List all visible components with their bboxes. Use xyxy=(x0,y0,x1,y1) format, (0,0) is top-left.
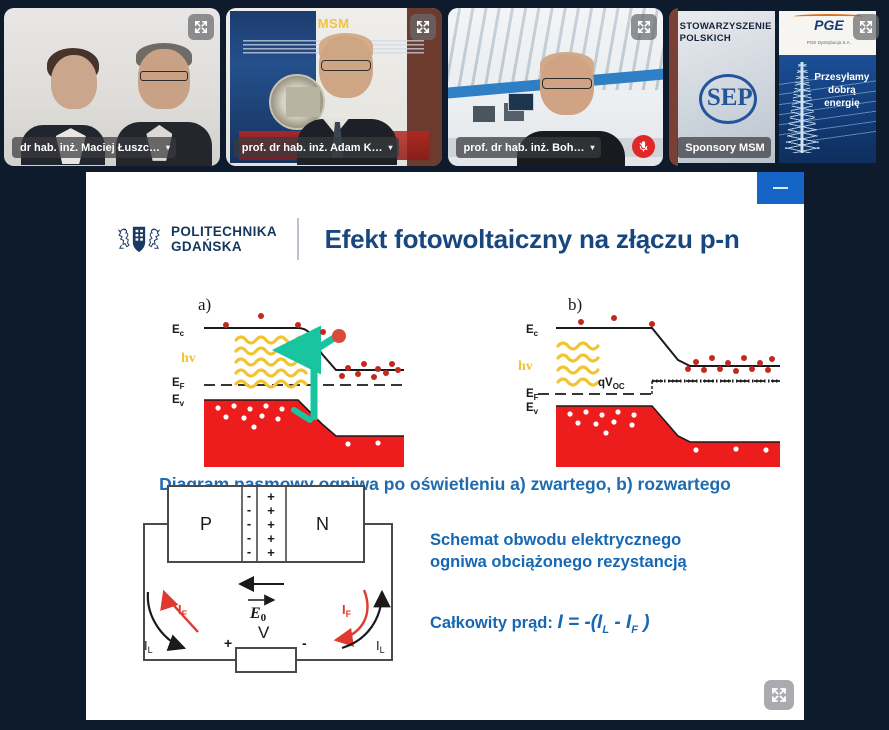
expand-icon[interactable] xyxy=(853,14,879,40)
chevron-down-icon[interactable]: ▾ xyxy=(166,143,170,152)
pg-crest-icon xyxy=(116,219,162,259)
svg-text:IL: IL xyxy=(144,638,153,655)
video-tile-1[interactable]: dr hab. inż. Maciej Łuszc… ▾ xyxy=(4,8,220,166)
band-diagrams: a) xyxy=(86,284,804,474)
svg-text:+: + xyxy=(267,489,275,504)
pg-logo-line2: GDAŃSKA xyxy=(171,239,277,254)
chevron-down-icon[interactable]: ▾ xyxy=(389,143,393,152)
svg-text:EF: EF xyxy=(172,377,185,391)
fullscreen-icon xyxy=(771,687,787,703)
participant-name: prof. dr hab. inż. Adam K… xyxy=(242,142,383,154)
total-current-formula: Całkowity prąd: I = -(IL - IF ) xyxy=(430,612,790,636)
circuit-diagram-svg: P N ----- +++++ E0 IF IL IF xyxy=(110,472,430,702)
expand-icon[interactable] xyxy=(188,14,214,40)
band-diagram-b: b) xyxy=(518,295,780,467)
slide-header: POLITECHNIKA GDAŃSKA Efekt fotowoltaiczn… xyxy=(86,208,804,270)
svg-text:a): a) xyxy=(198,295,211,314)
svg-text:-: - xyxy=(247,530,251,545)
formula-end: ) xyxy=(638,612,650,633)
video-tile-4[interactable]: STOWARZYSZENIE ELEKTRYKÓW POLSKICH SEP P… xyxy=(669,8,885,166)
svg-text:Ec: Ec xyxy=(172,324,185,338)
svg-text:+: + xyxy=(267,517,275,532)
svg-text:+: + xyxy=(267,503,275,518)
svg-text:+: + xyxy=(267,531,275,546)
video-tile-3[interactable]: prof. dr hab. inż. Boh… ▾ xyxy=(448,8,664,166)
pg-logo-text: POLITECHNIKA GDAŃSKA xyxy=(171,224,277,254)
circuit-diagram: P N ----- +++++ E0 IF IL IF xyxy=(110,472,430,702)
shared-slide-panel: POLITECHNIKA GDAŃSKA Efekt fotowoltaiczn… xyxy=(86,172,804,720)
voltage-label: V xyxy=(258,623,270,642)
minimize-button[interactable] xyxy=(757,172,804,204)
slide-text-block: Schemat obwodu elektrycznego ogniwa obci… xyxy=(430,530,790,635)
participant-name-badge[interactable]: prof. dr hab. inż. Boh… ▾ xyxy=(456,137,601,158)
svg-text:b): b) xyxy=(568,295,582,314)
text-line-1: Schemat obwodu elektrycznego xyxy=(430,530,790,552)
formula-mid: - I xyxy=(609,612,631,633)
svg-text:E0: E0 xyxy=(249,605,267,624)
svg-text:Ec: Ec xyxy=(526,324,539,338)
politechnika-gdanska-logo: POLITECHNIKA GDAŃSKA xyxy=(116,219,277,259)
participant-name: Sponsory MSM xyxy=(685,142,764,154)
svg-text:+: + xyxy=(267,545,275,560)
svg-text:qVOC: qVOC xyxy=(598,377,625,391)
p-region-label: P xyxy=(200,514,212,534)
svg-text:IF: IF xyxy=(342,602,352,619)
svg-text:IF: IF xyxy=(178,602,188,619)
expand-icon[interactable] xyxy=(410,14,436,40)
pge-slogan: Przesyłamy dobrą energię xyxy=(810,71,875,110)
participant-name-badge[interactable]: dr hab. inż. Maciej Łuszc… ▾ xyxy=(12,137,176,158)
slide-title: Efekt fotowoltaiczny na złączu p-n xyxy=(325,224,740,255)
svg-text:Ev: Ev xyxy=(526,402,539,416)
video-tile-strip: dr hab. inż. Maciej Łuszc… ▾ MSM prof. d… xyxy=(0,0,889,172)
svg-text:EF: EF xyxy=(526,388,539,402)
band-diagram-svg: a) xyxy=(86,284,804,474)
formula-part1: I = -(I xyxy=(557,612,602,633)
expand-icon[interactable] xyxy=(631,14,657,40)
participant-name-badge[interactable]: Sponsory MSM xyxy=(677,137,770,158)
text-line-2: ogniwa obciążonego rezystancją xyxy=(430,552,790,574)
svg-text:-: - xyxy=(247,488,251,503)
svg-text:-: - xyxy=(302,635,307,651)
svg-text:Ev: Ev xyxy=(172,394,185,408)
pg-logo-line1: POLITECHNIKA xyxy=(171,224,277,239)
sep-logo-mark: SEP xyxy=(704,84,756,118)
formula-sub-f: F xyxy=(631,623,638,635)
minimize-icon xyxy=(773,187,788,190)
svg-text:hv: hv xyxy=(181,351,196,366)
svg-text:+: + xyxy=(224,635,232,651)
band-diagram-a: a) xyxy=(172,295,404,467)
svg-text:-: - xyxy=(247,544,251,559)
n-region-label: N xyxy=(316,514,329,534)
header-divider xyxy=(297,218,299,260)
chevron-down-icon[interactable]: ▾ xyxy=(591,143,595,152)
participant-name-badge[interactable]: prof. dr hab. inż. Adam K… ▾ xyxy=(234,137,399,158)
fullscreen-button[interactable] xyxy=(764,680,794,710)
formula-label: Całkowity prąd: xyxy=(430,614,553,632)
pge-subtitle: PGE Dystrybucja S.A. xyxy=(786,40,872,45)
participant-name: prof. dr hab. inż. Boh… xyxy=(464,142,585,154)
svg-text:hv: hv xyxy=(518,359,533,374)
participant-name: dr hab. inż. Maciej Łuszc… xyxy=(20,142,160,154)
svg-text:-: - xyxy=(247,516,251,531)
video-tile-2[interactable]: MSM prof. dr hab. inż. Adam K… ▾ xyxy=(226,8,442,166)
svg-text:IL: IL xyxy=(376,638,385,655)
svg-text:-: - xyxy=(247,502,251,517)
